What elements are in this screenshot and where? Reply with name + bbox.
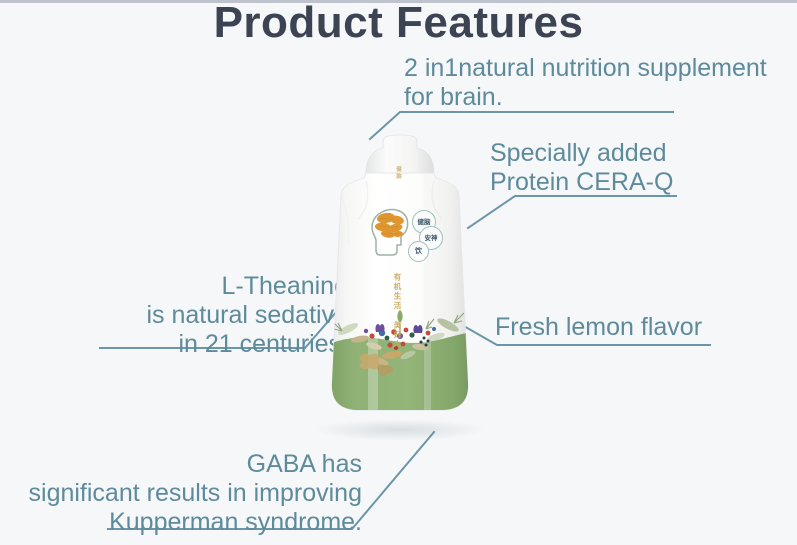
callout-gaba: GABA has significant results in improvin… (2, 450, 362, 537)
product-pouch: 健脑 安神 饮 健脑 有机生活 美好人生 (308, 133, 492, 445)
leader-line-cera-q (468, 196, 676, 228)
callout-l-theanine: L-Theanine is natural sedative in 21 cen… (60, 272, 348, 359)
infographic-canvas: Product Features 2 in1natural nutrition … (0, 0, 797, 545)
page-title: Product Features (0, 0, 797, 48)
pouch-illustration (308, 133, 492, 433)
callout-lemon-flavor: Fresh lemon flavor (495, 313, 702, 342)
callout-two-in-one: 2 in1natural nutrition supplement for br… (404, 54, 767, 112)
callout-cera-q: Specially added Protein CERA-Q (490, 139, 673, 197)
